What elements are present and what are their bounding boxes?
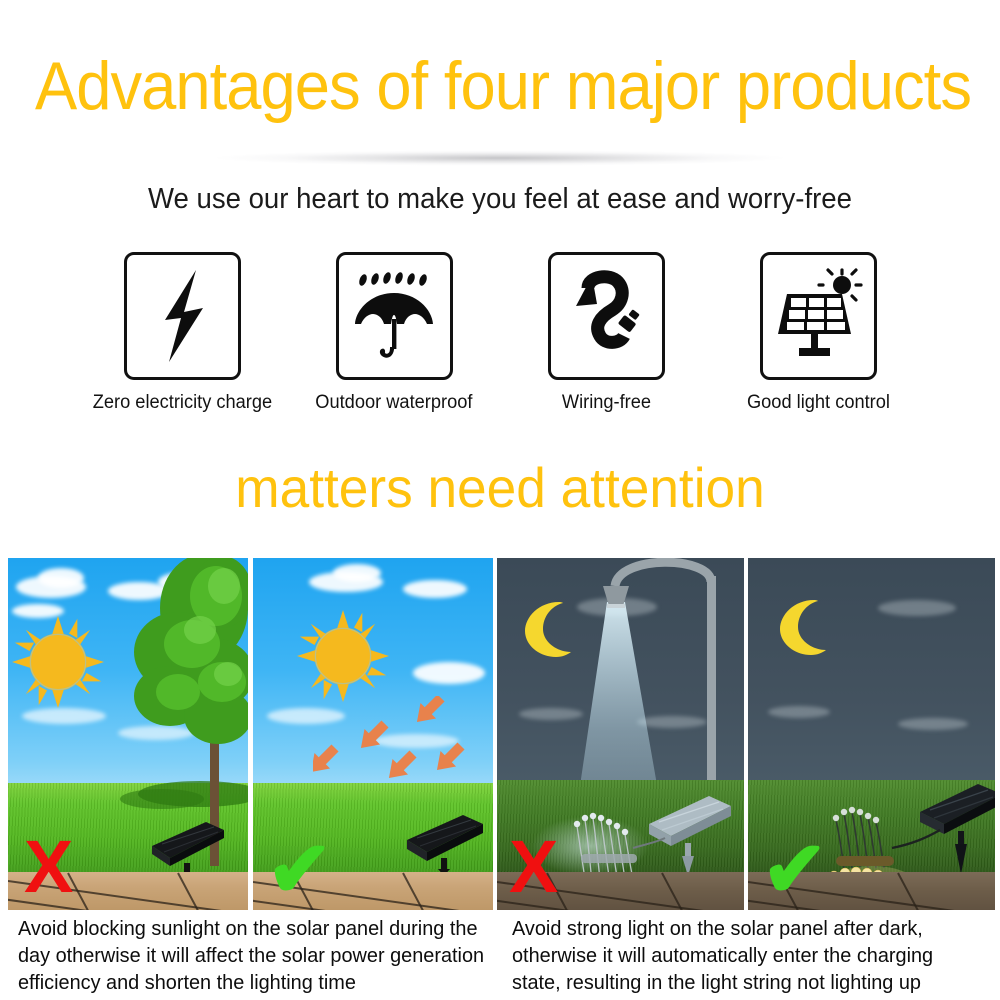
cloud — [403, 580, 467, 598]
solar-panel-sun-icon — [770, 268, 866, 364]
panel-night-strong-light[interactable]: X — [497, 558, 744, 910]
header-block: Advantages of four major products We use… — [0, 0, 1000, 235]
panel-day-clear[interactable]: ✔ — [253, 558, 493, 910]
cloud — [38, 568, 84, 588]
wire-cable-icon — [566, 266, 646, 366]
sun-icon — [297, 610, 389, 702]
caption-right: Avoid strong light on the solar panel af… — [512, 915, 985, 996]
feature-item-good-light-control[interactable]: Good light control — [738, 252, 898, 414]
attention-heading: matters need attention — [25, 455, 975, 520]
feature-label: Wiring-free — [561, 392, 650, 414]
cloud — [413, 662, 485, 684]
icon-box — [760, 252, 877, 380]
feature-label: Outdoor waterproof — [315, 392, 472, 414]
solar-panel-device — [148, 816, 228, 878]
feature-label: Zero electricity charge — [92, 392, 271, 414]
moon-icon — [515, 598, 577, 660]
panel-day-blocked[interactable]: X — [8, 558, 248, 910]
feature-item-wiring-free[interactable]: Wiring-free — [526, 252, 686, 414]
status-mark-check: ✔ — [267, 830, 332, 908]
feature-item-zero-electricity[interactable]: Zero electricity charge — [102, 252, 262, 414]
lightning-bolt-icon — [151, 268, 213, 364]
caption-left: Avoid blocking sunlight on the solar pan… — [18, 915, 495, 996]
icon-box — [124, 252, 241, 380]
page-title: Advantages of four major products — [35, 52, 965, 120]
moon-icon — [770, 596, 832, 658]
feature-icon-row: Zero electricity charge Outdoor waterpro… — [0, 252, 1000, 427]
feature-label: Good light control — [747, 392, 890, 414]
cloud — [519, 708, 583, 720]
status-mark-check: ✔ — [762, 830, 827, 908]
caption-row: Avoid blocking sunlight on the solar pan… — [0, 915, 1000, 1000]
sun-icon — [12, 616, 104, 708]
page-subtitle: We use our heart to make you feel at eas… — [25, 183, 975, 216]
cloud — [333, 564, 381, 582]
cloud — [898, 718, 968, 730]
cloud — [768, 706, 830, 718]
icon-box — [548, 252, 665, 380]
feature-item-outdoor-waterproof[interactable]: Outdoor waterproof — [314, 252, 474, 414]
panel-row: X — [8, 558, 996, 910]
status-mark-cross: X — [24, 830, 73, 904]
solar-panel-device — [403, 810, 487, 876]
cloud — [22, 708, 106, 724]
status-mark-cross: X — [509, 830, 558, 904]
title-divider — [150, 150, 850, 166]
icon-box — [336, 252, 453, 380]
cloud — [878, 600, 956, 616]
umbrella-rain-icon — [348, 267, 440, 365]
panel-night-dark[interactable]: ✔ — [748, 558, 995, 910]
